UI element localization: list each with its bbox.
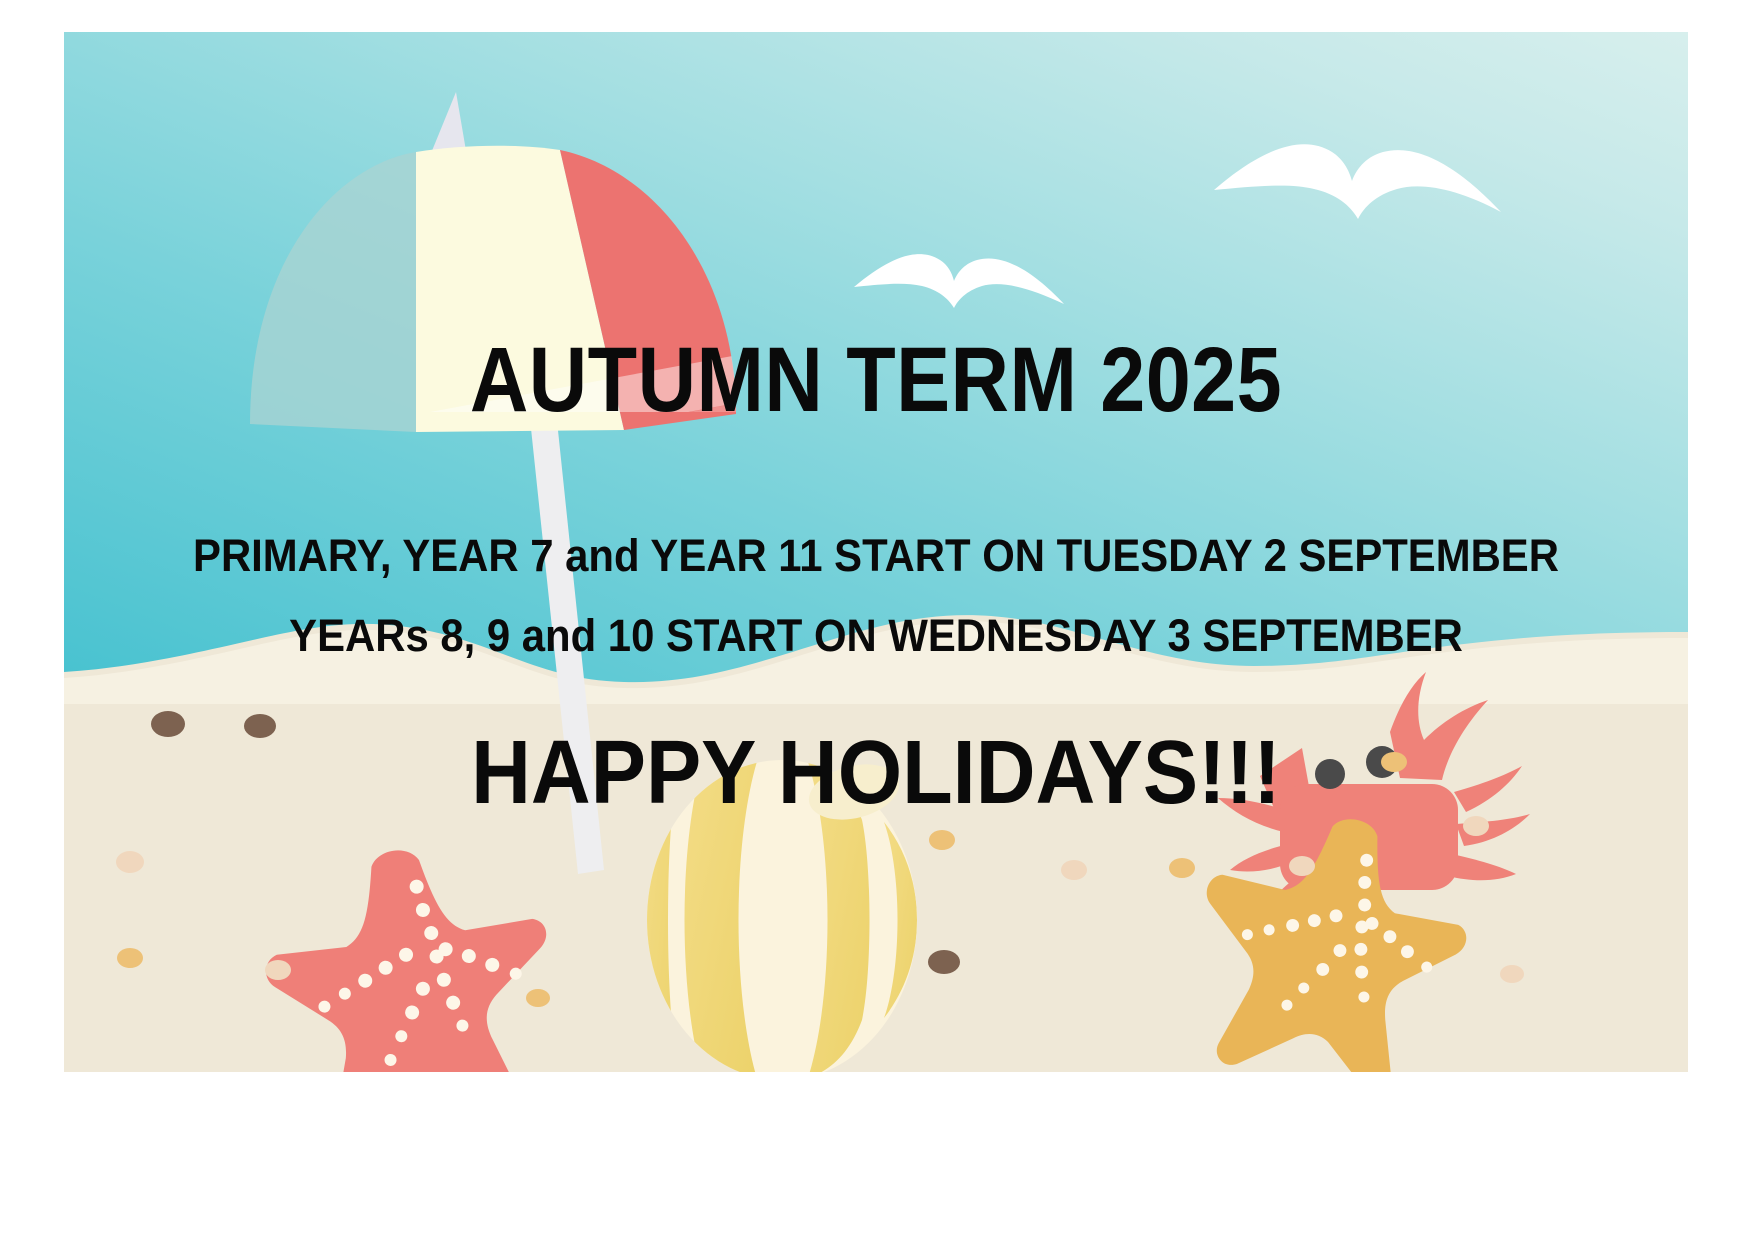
pebble-peach [1463,816,1489,836]
pebble-gold [117,948,143,968]
pebble-peach [1500,965,1524,983]
pebble-peach [265,960,291,980]
pebble-peach [1289,856,1315,876]
pebble-gold [526,989,550,1007]
pebble-peach [116,851,144,873]
pebble-gold [929,830,955,850]
pebble-brown [244,714,276,738]
poster-card: AUTUMN TERM 2025 PRIMARY, YEAR 7 and YEA… [64,32,1688,1072]
crab-eye-left [1315,759,1345,789]
poster-root: AUTUMN TERM 2025 PRIMARY, YEAR 7 and YEA… [0,0,1754,1240]
pebble-brown [928,950,960,974]
pebble-brown [151,711,185,737]
pebble-gold [1381,752,1407,772]
pebble-gold [1169,858,1195,878]
pebble-peach [1061,860,1087,880]
beach-scene-illustration [64,32,1688,1072]
